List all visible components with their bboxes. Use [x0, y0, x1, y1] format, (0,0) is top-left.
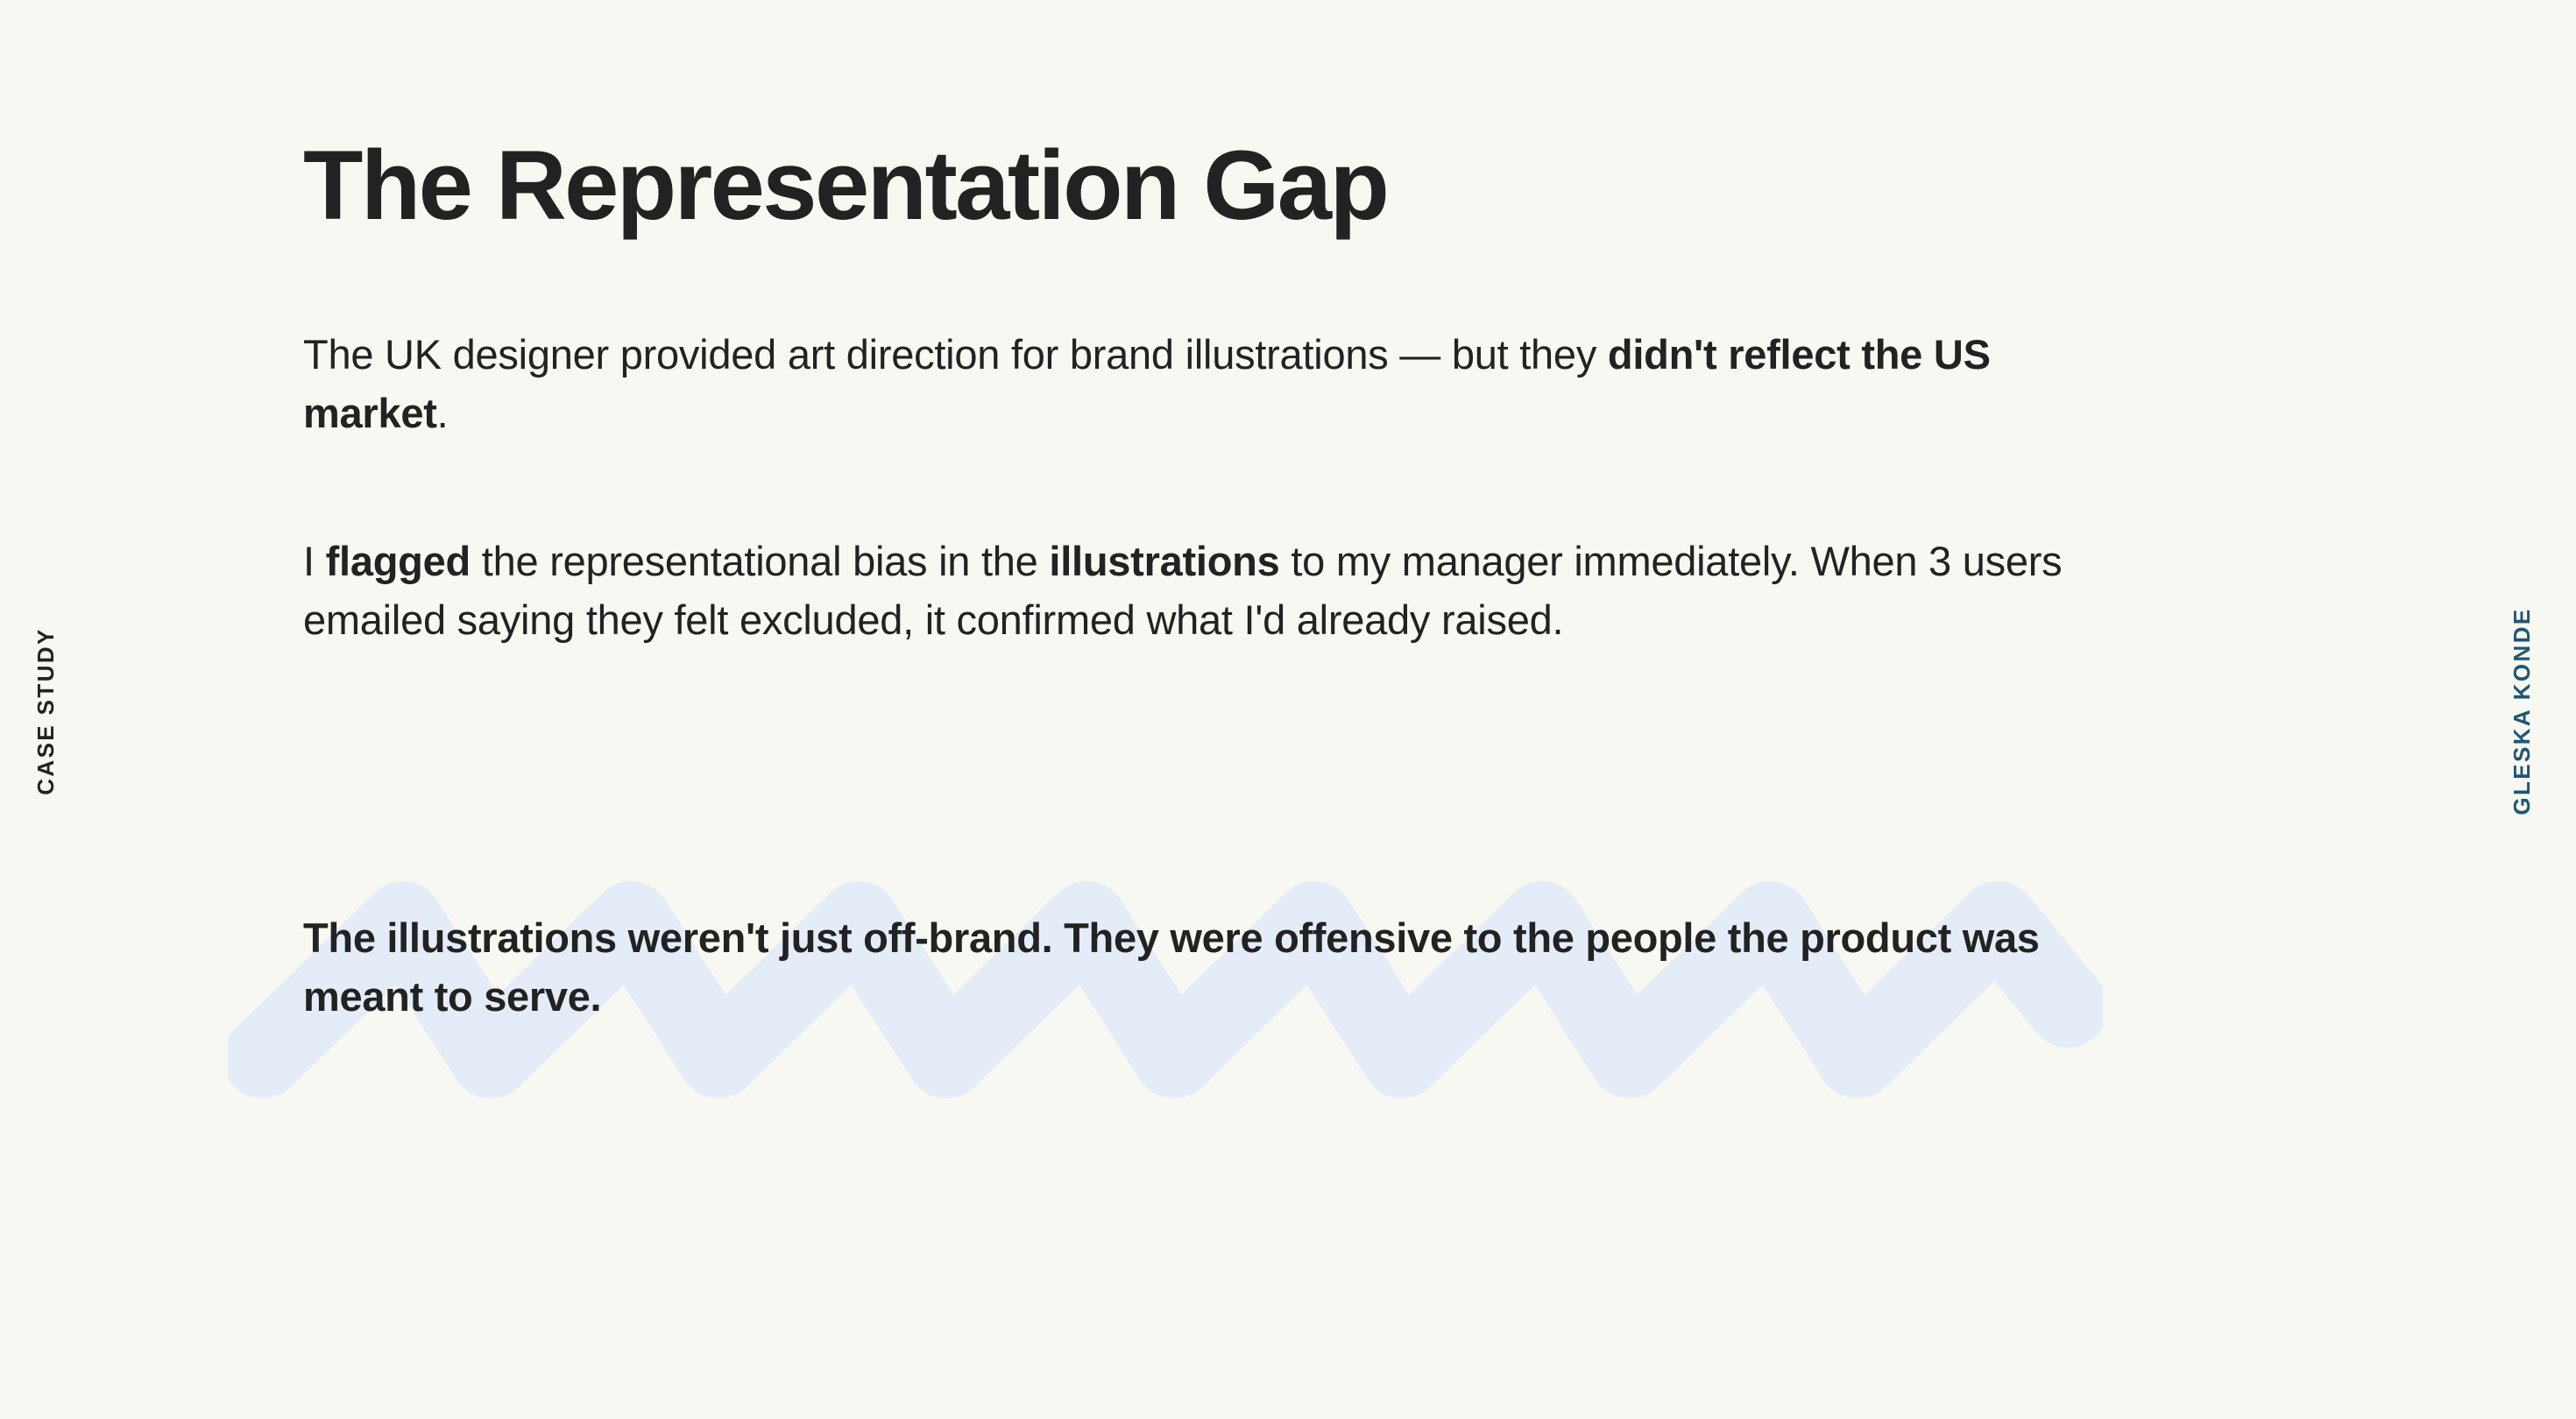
pullquote-text: The illustrations weren't just off-brand… — [303, 909, 2056, 1026]
body-paragraph-1: The UK designer provided art direction f… — [303, 326, 2064, 442]
pullquote-region: The illustrations weren't just off-brand… — [0, 858, 2576, 1121]
plain-text: the representational bias in the — [471, 538, 1049, 584]
slide-canvas: CASE STUDY GLESKA KONDE The Representati… — [0, 0, 2576, 1419]
author-rail-label: GLESKA KONDE — [2510, 607, 2533, 815]
emphasis-text: flagged — [326, 538, 471, 584]
case-study-rail-label: CASE STUDY — [34, 627, 57, 795]
page-title: The Representation Gap — [303, 133, 1387, 239]
emphasis-text: illustrations — [1049, 538, 1279, 584]
plain-text: The UK designer provided art direction f… — [303, 331, 1608, 378]
body-paragraph-2: I flagged the representational bias in t… — [303, 533, 2064, 649]
plain-text: . — [437, 390, 449, 436]
plain-text: I — [303, 538, 326, 584]
